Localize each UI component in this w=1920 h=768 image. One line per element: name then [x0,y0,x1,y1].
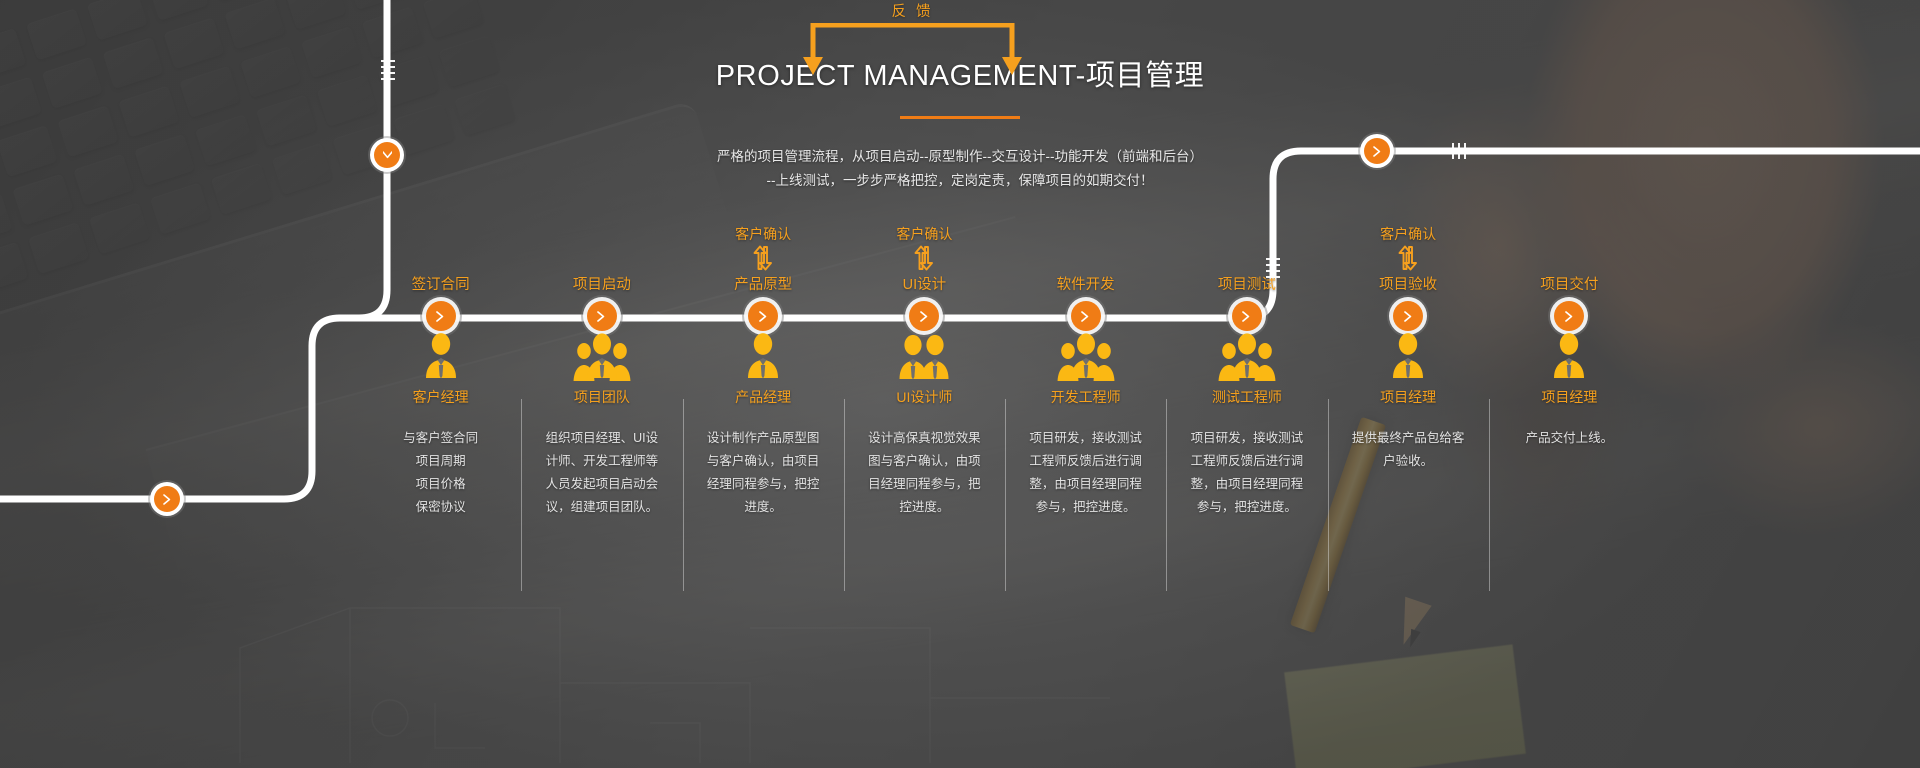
role-name-7: 项目经理 [1334,387,1483,407]
confirm-arrow-7 [1353,243,1463,273]
step-label-3: 产品原型 [708,273,818,294]
person-group-three-icon [1011,333,1160,381]
step-label-4: UI设计 [869,273,979,294]
path-ticks-right-vertical [1266,258,1280,278]
step-node-dot-6[interactable] [1232,301,1262,331]
path-node-bottom-left[interactable] [154,486,180,512]
person-icon [892,331,956,381]
feedback-arrow-icon [795,23,1030,83]
timeline-step-3[interactable]: 客户确认 产品原型 [708,225,818,294]
person-icon [1537,331,1601,381]
person-single-icon [1334,333,1483,381]
role-column-3: 产品经理 设计制作产品原型图与客户确认，由项目经理同程参与，把控进度。 [683,333,844,563]
up-down-arrow-icon [1395,245,1421,271]
feedback-label: 反 馈 [795,0,1030,21]
role-name-2: 项目团队 [527,387,676,407]
role-name-6: 测试工程师 [1172,387,1321,407]
title-underline [900,116,1020,119]
timeline-step-5[interactable]: 软件开发 [1031,225,1141,294]
step-node-dot-3[interactable] [748,301,778,331]
chevron-right-icon [1404,311,1413,322]
person-single-icon [1495,333,1644,381]
person-icon [1054,331,1118,381]
step-label-6: 项目测试 [1192,273,1302,294]
step-node-dot-1[interactable] [426,301,456,331]
role-column-8: 项目经理 产品交付上线。 [1489,333,1650,563]
chevron-right-icon [1242,311,1251,322]
role-column-1: 客户经理 与客户签合同项目周期项目价格保密协议 [360,333,521,563]
role-name-3: 产品经理 [689,387,838,407]
person-icon [1376,331,1440,381]
person-icon [1215,331,1279,381]
chevron-right-icon [1373,146,1382,157]
chevron-right-icon [1565,311,1574,322]
role-name-1: 客户经理 [366,387,515,407]
subtitle: 严格的项目管理流程，从项目启动--原型制作--交互设计--功能开发（前端和后台）… [0,145,1920,193]
step-label-2: 项目启动 [547,273,657,294]
up-down-arrow-icon [750,245,776,271]
step-label-7: 项目验收 [1353,273,1463,294]
role-column-4: UI设计师 设计高保真视觉效果图与客户确认，由项目经理同程参与，把控进度。 [844,333,1005,563]
step-node-dot-2[interactable] [587,301,617,331]
timeline: 签订合同 项目启动 客户确认 产品原型 客户确认 UI设计 软件开发 项目测试 … [360,225,1650,345]
step-description-8: 产品交付上线。 [1495,427,1644,450]
timeline-step-4[interactable]: 客户确认 UI设计 [869,225,979,294]
step-label-1: 签订合同 [386,273,496,294]
path-ticks-left [381,60,395,80]
step-description-7: 提供最终产品包给客户验收。 [1334,427,1483,473]
step-label-5: 软件开发 [1031,273,1141,294]
subtitle-line-1: 严格的项目管理流程，从项目启动--原型制作--交互设计--功能开发（前端和后台） [0,145,1920,169]
step-description-5: 项目研发，接收测试工程师反馈后进行调整，由项目经理同程参与，把控进度。 [1011,427,1160,519]
step-node-dot-4[interactable] [909,301,939,331]
step-label-8: 项目交付 [1514,273,1624,294]
timeline-step-2[interactable]: 项目启动 [547,225,657,294]
path-node-top-right[interactable] [1364,138,1390,164]
role-name-8: 项目经理 [1495,387,1644,407]
person-icon [409,331,473,381]
step-node-dot-8[interactable] [1554,301,1584,331]
chevron-right-icon [920,311,929,322]
step-description-4: 设计高保真视觉效果图与客户确认，由项目经理同程参与，把控进度。 [850,427,999,519]
step-node-dot-5[interactable] [1071,301,1101,331]
person-group-three-icon [1172,333,1321,381]
role-name-4: UI设计师 [850,387,999,407]
chevron-right-icon [436,311,445,322]
timeline-step-8[interactable]: 项目交付 [1514,225,1624,294]
step-description-1: 与客户签合同项目周期项目价格保密协议 [366,427,515,519]
person-group-two-icon [850,333,999,381]
confirm-label-7: 客户确认 [1353,225,1463,243]
person-icon [731,331,795,381]
confirm-arrow-4 [869,243,979,273]
chevron-right-icon [759,311,768,322]
step-description-3: 设计制作产品原型图与客户确认，由项目经理同程参与，把控进度。 [689,427,838,519]
path-node-top-left[interactable] [374,142,400,168]
role-column-6: 测试工程师 项目研发，接收测试工程师反馈后进行调整，由项目经理同程参与，把控进度… [1166,333,1327,563]
timeline-step-7[interactable]: 客户确认 项目验收 [1353,225,1463,294]
person-single-icon [689,333,838,381]
project-management-infographic: PROJECT MANAGEMENT-项目管理 严格的项目管理流程，从项目启动-… [0,0,1920,768]
up-down-arrow-icon [911,245,937,271]
person-group-three-icon [527,333,676,381]
role-column-7: 项目经理 提供最终产品包给客户验收。 [1328,333,1489,563]
person-icon [570,331,634,381]
role-column-5: 开发工程师 项目研发，接收测试工程师反馈后进行调整，由项目经理同程参与，把控进度… [1005,333,1166,563]
chevron-right-icon [597,311,606,322]
person-single-icon [366,333,515,381]
confirm-label-3: 客户确认 [708,225,818,243]
confirm-arrow-3 [708,243,818,273]
chevron-right-icon [163,494,172,505]
role-columns: 客户经理 与客户签合同项目周期项目价格保密协议 项目团队 组织项目经理、UI设计… [360,333,1650,563]
role-column-2: 项目团队 组织项目经理、UI设计师、开发工程师等人员发起项目启动会议，组建项目团… [521,333,682,563]
feedback-bracket: 反 馈 [795,0,1030,88]
subtitle-line-2: --上线测试，一步步严格把控，定岗定责，保障项目的如期交付！ [0,169,1920,193]
chevron-down-icon [383,150,392,161]
step-node-dot-7[interactable] [1393,301,1423,331]
timeline-step-6[interactable]: 项目测试 [1192,225,1302,294]
role-name-5: 开发工程师 [1011,387,1160,407]
path-ticks-right-edge [1452,143,1466,159]
timeline-step-1[interactable]: 签订合同 [386,225,496,294]
chevron-right-icon [1081,311,1090,322]
confirm-label-4: 客户确认 [869,225,979,243]
step-description-2: 组织项目经理、UI设计师、开发工程师等人员发起项目启动会议，组建项目团队。 [527,427,676,519]
step-description-6: 项目研发，接收测试工程师反馈后进行调整，由项目经理同程参与，把控进度。 [1172,427,1321,519]
